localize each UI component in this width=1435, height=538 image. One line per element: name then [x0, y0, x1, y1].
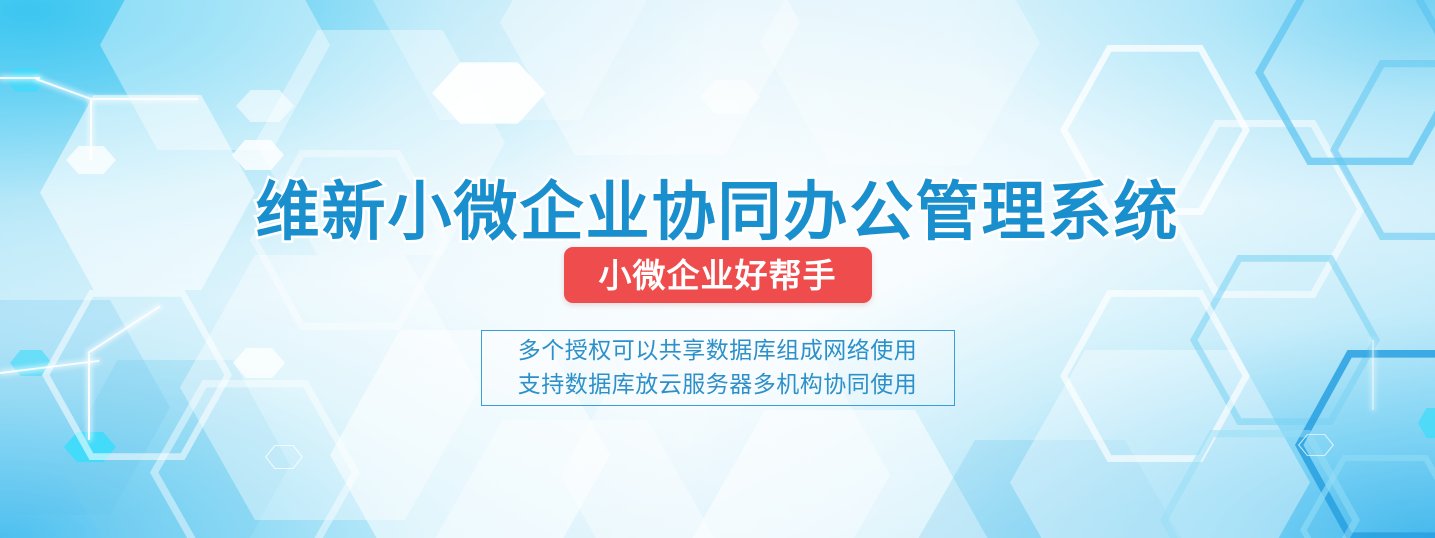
- tagline-badge-label: 小微企业好帮手: [599, 259, 837, 292]
- feature-info-line: 多个授权可以共享数据库组成网络使用: [518, 334, 918, 368]
- feature-info-line: 支持数据库放云服务器多机构协同使用: [518, 368, 918, 402]
- tagline-badge: 小微企业好帮手: [564, 247, 872, 303]
- feature-info-box: 多个授权可以共享数据库组成网络使用 支持数据库放云服务器多机构协同使用: [481, 330, 955, 406]
- page-title: 维新小微企业协同办公管理系统: [0, 181, 1435, 245]
- banner-content: 维新小微企业协同办公管理系统 小微企业好帮手 多个授权可以共享数据库组成网络使用…: [0, 0, 1435, 538]
- promo-banner: 维新小微企业协同办公管理系统 小微企业好帮手 多个授权可以共享数据库组成网络使用…: [0, 0, 1435, 538]
